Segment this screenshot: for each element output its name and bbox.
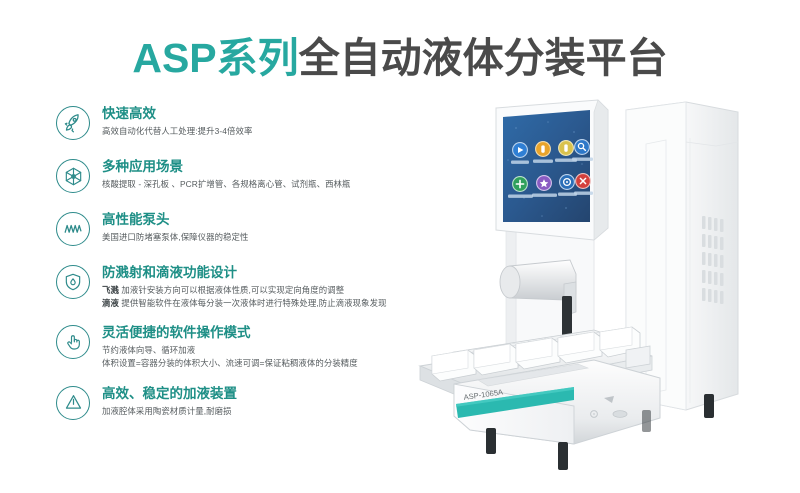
feature-item: 灵活便捷的软件操作模式 节约液体向导、循环加液 体积设置=容器分装的体积大小、流…: [56, 323, 406, 370]
page-title: ASP系列全自动液体分装平台: [0, 34, 800, 83]
feature-desc-text: 节约液体向导、循环加液: [102, 345, 195, 355]
feature-desc-lead: 飞溅: [102, 285, 119, 295]
feature-desc-text: 加液腔体采用陶瓷材质计量,耐磨损: [102, 406, 232, 416]
feature-title: 防溅射和滴液功能设计: [102, 264, 387, 282]
feature-desc-lead: 滴液: [102, 298, 119, 308]
feature-desc-line: 高效自动化代替人工处理:提升3-4倍效率: [102, 125, 252, 138]
feature-desc-line: 节约液体向导、循环加液: [102, 344, 358, 357]
feature-desc-line: 飞溅 加液针安装方向可以根据液体性质,可以实现定向角度的调整: [102, 284, 387, 297]
rocket-icon: [56, 106, 90, 140]
app-icon-start[interactable]: [511, 143, 529, 164]
touchscreen-display[interactable]: [503, 110, 593, 222]
feature-desc-text: 美国进口防堵塞泵体,保障仪器的稳定性: [102, 232, 249, 242]
page-title-rest: 全自动液体分装平台: [299, 35, 668, 81]
flask-triangle-icon: [56, 386, 90, 420]
feature-desc-text: 提供智能软件在液体每分装一次液体时进行特殊处理,防止滴液现象发现: [121, 298, 386, 308]
product-photo-liquid-dispenser: ASP-1065A: [398, 98, 788, 483]
feature-title: 高效、稳定的加液装置: [102, 385, 237, 403]
feature-desc-line: 美国进口防堵塞泵体,保障仪器的稳定性: [102, 231, 249, 244]
feature-desc-text: 核酸提取 - 深孔板 、PCR扩增管、各规格离心管、试剂瓶、西林瓶: [102, 179, 351, 189]
feature-item: 高效、稳定的加液装置 加液腔体采用陶瓷材质计量,耐磨损: [56, 384, 406, 424]
feature-item: 高性能泵头 美国进口防堵塞泵体,保障仪器的稳定性: [56, 210, 406, 250]
feature-title: 多种应用场景: [102, 158, 351, 176]
feature-title: 快速高效: [102, 105, 252, 123]
waveform-icon: [56, 212, 90, 246]
feature-desc-line: 滴液 提供智能软件在液体每分装一次液体时进行特殊处理,防止滴液现象发现: [102, 297, 387, 310]
feature-desc-line: 核酸提取 - 深孔板 、PCR扩增管、各规格离心管、试剂瓶、西林瓶: [102, 178, 351, 191]
feature-title: 灵活便捷的软件操作模式: [102, 324, 358, 342]
feature-list: 快速高效 高效自动化代替人工处理:提升3-4倍效率 多种应用场景 核酸提取 - …: [56, 104, 406, 437]
page-root: ASP系列全自动液体分装平台 快速高效 高效自动化代替人工处理:提升3-4倍效率: [0, 0, 800, 493]
feature-item: 快速高效 高效自动化代替人工处理:提升3-4倍效率: [56, 104, 406, 144]
feature-desc-text: 体积设置=容器分装的体积大小、流速可调=保证粘稠液体的分装精度: [102, 358, 358, 368]
feature-desc-line: 加液腔体采用陶瓷材质计量,耐磨损: [102, 405, 237, 418]
feature-desc-line: 体积设置=容器分装的体积大小、流速可调=保证粘稠液体的分装精度: [102, 357, 358, 370]
feature-item: 防溅射和滴液功能设计 飞溅 加液针安装方向可以根据液体性质,可以实现定向角度的调…: [56, 263, 406, 310]
shield-icon: [56, 265, 90, 299]
feature-title: 高性能泵头: [102, 211, 249, 229]
page-title-accent: ASP系列: [132, 35, 298, 81]
feature-desc-text: 加液针安装方向可以根据液体性质,可以实现定向角度的调整: [121, 285, 344, 295]
feature-item: 多种应用场景 核酸提取 - 深孔板 、PCR扩增管、各规格离心管、试剂瓶、西林瓶: [56, 157, 406, 197]
feature-desc-text: 高效自动化代替人工处理:提升3-4倍效率: [102, 126, 252, 136]
touch-hand-icon: [56, 325, 90, 359]
cube-icon: [56, 159, 90, 193]
